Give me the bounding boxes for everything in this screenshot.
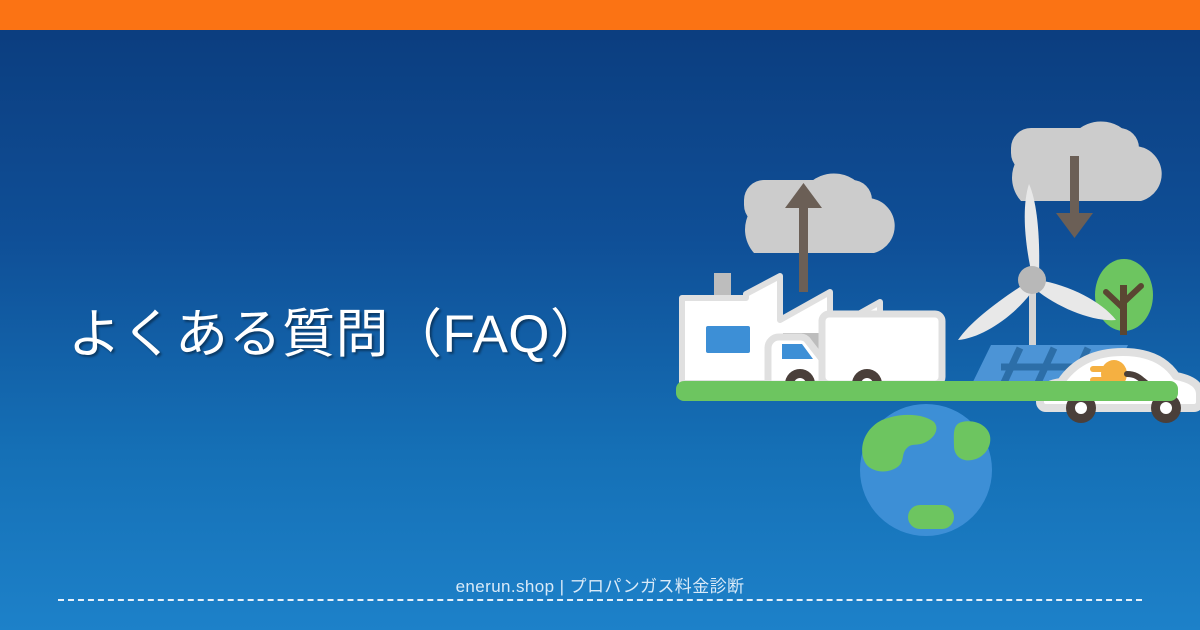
ground-bar <box>676 381 1178 401</box>
earth-globe-icon <box>860 404 992 536</box>
page-title: よくある質問（FAQ） <box>68 304 604 367</box>
slide-canvas: よくある質問（FAQ） <box>0 0 1200 630</box>
top-accent-bar <box>0 0 1200 30</box>
footer-divider <box>58 599 1142 601</box>
illustration <box>650 80 1200 540</box>
footer-branding: enerun.shop | プロパンガス料金診断 <box>0 572 1200 597</box>
emission-cloud-up-icon <box>744 173 895 292</box>
tree-icon <box>1095 259 1153 335</box>
